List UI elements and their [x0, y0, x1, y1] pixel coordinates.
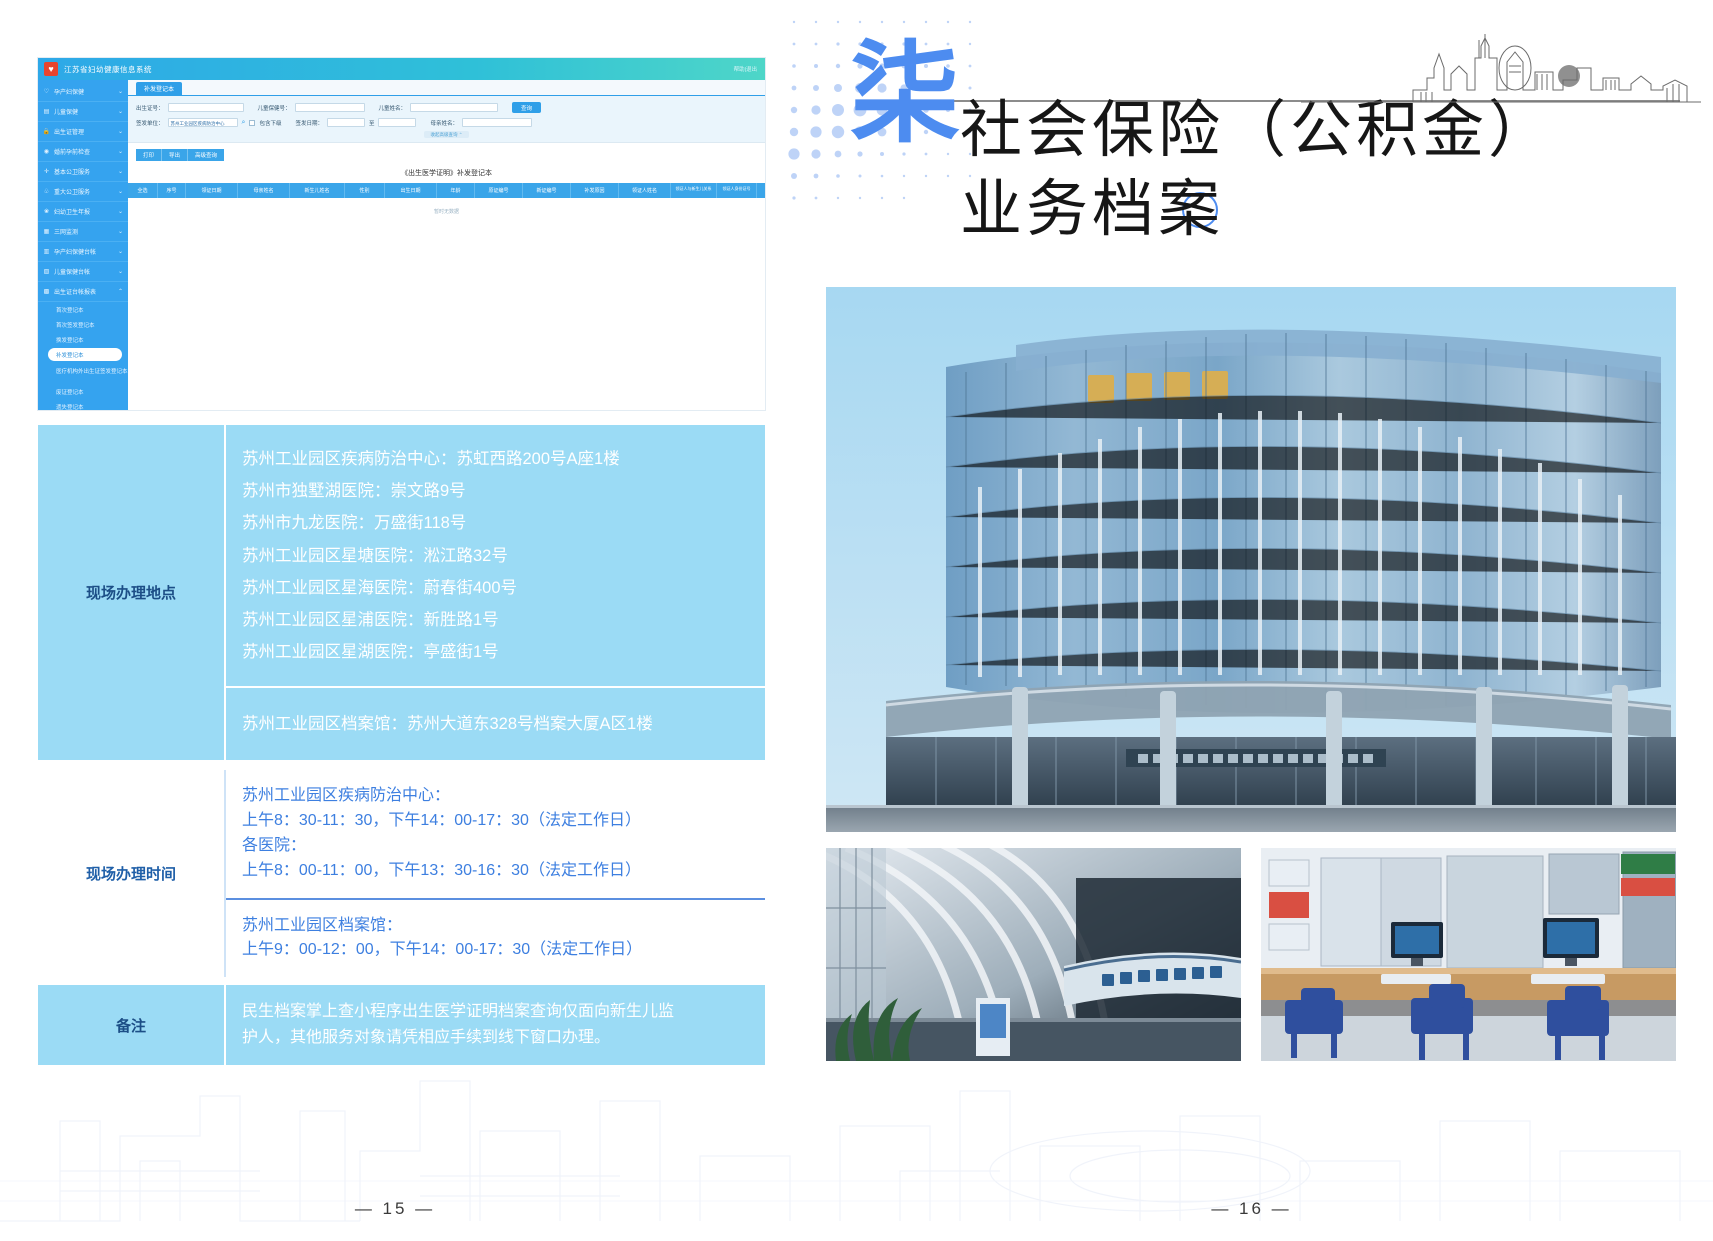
table-row-locations: 现场办理地点 苏州工业园区疾病防治中心：苏虹西路200号A座1楼 苏州市独墅湖医…: [38, 425, 765, 686]
left-page: ♥ 江苏省妇幼健康信息系统 帮助|退出 ♡ 孕产妇保健 ⌄ ▤ 儿童保健 ⌄ 🔒: [0, 0, 790, 1241]
search-label-unit: 签发单位：: [136, 119, 164, 127]
tab-active[interactable]: 补发登记本: [136, 82, 182, 95]
grid-col-6: 出生日期: [385, 183, 437, 198]
sidebar-item-label: 出生证管理: [54, 127, 114, 136]
app-sidebar: ♡ 孕产妇保健 ⌄ ▤ 儿童保健 ⌄ 🔒 出生证管理 ⌄ ◉ 婚前孕前检查: [38, 80, 128, 410]
sidebar-item-label: 孕产妇保健台帐: [54, 247, 114, 256]
book-icon: ▤: [43, 108, 50, 115]
grid-toolbar: 打印 导出 高级查询: [128, 143, 765, 161]
sidebar-item-label: 儿童保健台帐: [54, 267, 114, 276]
chevron-down-icon: ⌄: [118, 268, 123, 275]
advanced-search-toggle[interactable]: 收起高级查询 ⌃: [424, 131, 468, 138]
grid-col-8: 原证编号: [475, 183, 523, 198]
chevron-down-icon: ⌄: [118, 168, 123, 175]
grid-col-7: 年龄: [437, 183, 475, 198]
sidebar-item-label: 儿童保健: [54, 107, 114, 116]
sidebar-item-9[interactable]: ▧ 儿童保健台帐 ⌄: [38, 262, 128, 282]
sidebar-item-label: 三网监测: [54, 227, 114, 236]
grid-col-10: 补发原因: [571, 183, 619, 198]
table-spacer: [38, 760, 765, 770]
sidebar-item-label: 重大公卫服务: [54, 187, 114, 196]
row-label-location: 现场办理地点: [38, 425, 226, 760]
magnifier-icon[interactable]: ⌕: [242, 119, 246, 127]
table-row-hours: 现场办理时间 苏州工业园区疾病防治中心： 上午8：30-11：30，下午14：0…: [38, 770, 765, 897]
grid-col-0[interactable]: 全选: [128, 183, 158, 198]
query-button[interactable]: 查询: [512, 102, 541, 113]
sidebar-item-4[interactable]: ✛ 基本公卫服务 ⌄: [38, 162, 128, 182]
sidebar-subitem-3[interactable]: 补发登记本: [48, 348, 122, 361]
page-number-left: — 15 —: [0, 1199, 790, 1219]
sidebar-subitem-6[interactable]: 遗失登记本: [38, 399, 128, 410]
heart-icon: ♡: [43, 88, 50, 95]
huijin-building-photo: [826, 287, 1676, 832]
sidebar-subitem-2[interactable]: 换发登记本: [38, 332, 128, 347]
list-item: 苏州工业园区疾病防治中心：苏虹西路200号A座1楼: [242, 443, 765, 475]
search-label-0: 出生证号：: [136, 104, 164, 112]
remarks-body: 民生档案掌上查小程序出生医学证明档案查询仅面向新生儿监 护人，其他服务对象请凭相…: [226, 985, 765, 1065]
row-label-hours: 现场办理时间: [38, 770, 226, 977]
list-item: 护人，其他服务对象请凭相应手续到线下窗口办理。: [242, 1025, 749, 1051]
sidebar-subitem-4[interactable]: 医疗机构外出生证签发登记本: [38, 362, 128, 384]
chevron-down-icon: ⌄: [118, 148, 123, 155]
list-item: 上午8：00-11：00，下午13：30-16：30（法定工作日）: [242, 859, 765, 884]
search-input-date-from[interactable]: [327, 118, 365, 127]
sidebar-item-2[interactable]: 🔒 出生证管理 ⌄: [38, 122, 128, 142]
list-item: 苏州工业园区档案馆：苏州大道东328号档案大厦A区1楼: [242, 708, 765, 740]
app-header: ♥ 江苏省妇幼健康信息系统 帮助|退出: [38, 58, 765, 80]
sidebar-item-10[interactable]: ▩ 出生证台帐报表 ⌃: [38, 282, 128, 302]
app-title: 江苏省妇幼健康信息系统: [64, 64, 152, 75]
grid-col-3: 母亲姓名: [238, 183, 290, 198]
chevron-down-icon: ⌄: [118, 228, 123, 235]
grid-col-12: 领证人与新生儿关系: [671, 183, 717, 198]
chart-icon: ▦: [43, 228, 50, 235]
city-skyline-icon: [1301, 28, 1701, 108]
chapter-number: 柒: [850, 40, 960, 150]
hours-primary: 苏州工业园区疾病防治中心： 上午8：30-11：30，下午14：00-17：30…: [226, 770, 765, 897]
grid-title: 《出生医学证明》补发登记本: [128, 168, 765, 178]
list-item: 苏州工业园区星塘医院：淞江路32号: [242, 540, 765, 572]
list-item: 苏州工业园区星浦医院：新胜路1号: [242, 604, 765, 636]
sidebar-item-label: 基本公卫服务: [54, 167, 114, 176]
app-logo-icon: ♥: [44, 62, 58, 76]
include-sublevel-checkbox[interactable]: [249, 120, 255, 126]
chevron-down-icon: ⌄: [118, 248, 123, 255]
list-item: 苏州工业园区档案馆：: [242, 914, 765, 939]
plus-icon: ✛: [43, 168, 50, 175]
sidebar-item-label: 婚前孕前检查: [54, 147, 114, 156]
grid-col-9: 新证编号: [523, 183, 571, 198]
target-icon: ◉: [43, 148, 50, 155]
chevron-up-icon: ⌃: [118, 288, 123, 295]
location-list-primary: 苏州工业园区疾病防治中心：苏虹西路200号A座1楼 苏州市独墅湖医院：崇文路9号…: [226, 425, 765, 686]
row-label-remarks: 备注: [38, 985, 226, 1065]
bell-icon: ♧: [43, 188, 50, 195]
app-screenshot: ♥ 江苏省妇幼健康信息系统 帮助|退出 ♡ 孕产妇保健 ⌄ ▤ 儿童保健 ⌄ 🔒: [38, 58, 765, 410]
include-sublevel-label: 包含下级: [259, 119, 281, 127]
page-title-line2: 业务档案: [960, 171, 1700, 250]
table-icon: ▥: [43, 248, 50, 255]
report-icon: ▩: [43, 288, 50, 295]
grid-col-11: 领证人姓名: [619, 183, 671, 198]
service-hall-lobby-photo: [826, 848, 1241, 1061]
service-info-table: 现场办理地点 苏州工业园区疾病防治中心：苏虹西路200号A座1楼 苏州市独墅湖医…: [38, 425, 765, 1065]
doc-icon: ▧: [43, 268, 50, 275]
export-button[interactable]: 导出: [162, 149, 188, 161]
chevron-down-icon: ⌄: [118, 88, 123, 95]
sidebar-item-0[interactable]: ♡ 孕产妇保健 ⌄: [38, 82, 128, 102]
list-item: 民生档案掌上查小程序出生医学证明档案查询仅面向新生儿监: [242, 999, 749, 1025]
search-label-2: 儿童姓名：: [379, 104, 407, 112]
list-item: 苏州工业园区星海医院：蔚春街400号: [242, 572, 765, 604]
list-item: 苏州市独墅湖医院：崇文路9号: [242, 475, 765, 507]
advanced-query-button[interactable]: 高级查询: [188, 149, 224, 161]
search-input-issuing-unit[interactable]: 苏州工业园区疾病防治中心: [168, 118, 238, 127]
sidebar-subitem-5[interactable]: 废证登记本: [38, 384, 128, 399]
flower-icon: ❀: [43, 208, 50, 215]
page-title: 社会保险（公积金） 业务档案: [960, 92, 1700, 251]
grid-col-5: 性别: [345, 183, 385, 198]
grid-col-13: 领证人身份证号: [717, 183, 757, 198]
list-item: 各医院：: [242, 834, 765, 859]
search-label-mother: 母亲姓名：: [430, 119, 458, 127]
grid-col-4: 新生儿姓名: [290, 183, 345, 198]
search-label-date: 签发日期：: [295, 119, 323, 127]
list-item: 苏州工业园区疾病防治中心：: [242, 784, 765, 809]
list-item: 上午8：30-11：30，下午14：00-17：30（法定工作日）: [242, 809, 765, 834]
sidebar-item-label: 出生证台帐报表: [54, 287, 114, 296]
tab-bar: 补发登记本: [128, 80, 765, 96]
print-button[interactable]: 打印: [136, 149, 162, 161]
sidebar-item-1[interactable]: ▤ 儿童保健 ⌄: [38, 102, 128, 122]
search-input-mother-name[interactable]: [462, 118, 532, 127]
app-content: 补发登记本 出生证号： 儿童保健号： 儿童姓名： 查询 签发单位： 苏州工: [128, 80, 765, 410]
sidebar-item-8[interactable]: ▥ 孕产妇保健台帐 ⌄: [38, 242, 128, 262]
chevron-down-icon: ⌄: [118, 128, 123, 135]
location-archive: 苏州工业园区档案馆：苏州大道东328号档案大厦A区1楼: [226, 686, 765, 760]
lock-icon: 🔒: [43, 128, 50, 135]
list-item: 上午9：00-12：00，下午14：00-17：30（法定工作日）: [242, 938, 765, 963]
grid-empty-message: 暂时无数据: [128, 198, 765, 225]
chevron-down-icon: ⌄: [118, 208, 123, 215]
chevron-down-icon: ⌄: [118, 108, 123, 115]
grid-header-row: 全选 序号 领证日期 母亲姓名 新生儿姓名 性别 出生日期 年龄 原证编号 新证…: [128, 183, 765, 198]
search-label-1: 儿童保健号：: [258, 104, 291, 112]
sidebar-item-3[interactable]: ◉ 婚前孕前检查 ⌄: [38, 142, 128, 162]
page-number-right: — 16 —: [790, 1199, 1713, 1219]
sidebar-item-label: 妇幼卫生年报: [54, 207, 114, 216]
sidebar-item-7[interactable]: ▦ 三网监测 ⌄: [38, 222, 128, 242]
sidebar-item-label: 孕产妇保健: [54, 87, 114, 96]
search-input-date-to[interactable]: [378, 118, 416, 127]
search-panel: 出生证号： 儿童保健号： 儿童姓名： 查询 签发单位： 苏州工业园区疾病防治中心…: [128, 96, 765, 143]
sidebar-item-6[interactable]: ❀ 妇幼卫生年报 ⌄: [38, 202, 128, 222]
list-item: 苏州工业园区星湖医院：亭盛街1号: [242, 636, 765, 668]
sidebar-subitem-1[interactable]: 首次签发登记本: [38, 317, 128, 332]
sidebar-subitem-0[interactable]: 首次登记本: [38, 302, 128, 317]
table-row-remarks: 备注 民生档案掌上查小程序出生医学证明档案查询仅面向新生儿监 护人，其他服务对象…: [38, 985, 765, 1065]
search-input-birth-cert[interactable]: [168, 103, 244, 112]
grid-col-1: 序号: [158, 183, 186, 198]
chevron-down-icon: ⌄: [118, 188, 123, 195]
app-user-label[interactable]: 帮助|退出: [734, 65, 757, 73]
search-input-child-health-no[interactable]: [295, 103, 365, 112]
hours-archive: 苏州工业园区档案馆： 上午9：00-12：00，下午14：00-17：30（法定…: [226, 898, 765, 978]
sidebar-item-5[interactable]: ♧ 重大公卫服务 ⌄: [38, 182, 128, 202]
grid-col-2: 领证日期: [186, 183, 238, 198]
search-input-child-name[interactable]: [410, 103, 498, 112]
date-range-separator: 至: [369, 119, 375, 127]
list-item: 苏州市九龙医院：万盛街118号: [242, 507, 765, 539]
table-spacer-2: [38, 977, 765, 985]
service-counter-photo: [1261, 848, 1676, 1061]
right-page: 柒 社会保险（公积金） 业务档案: [790, 0, 1713, 1241]
